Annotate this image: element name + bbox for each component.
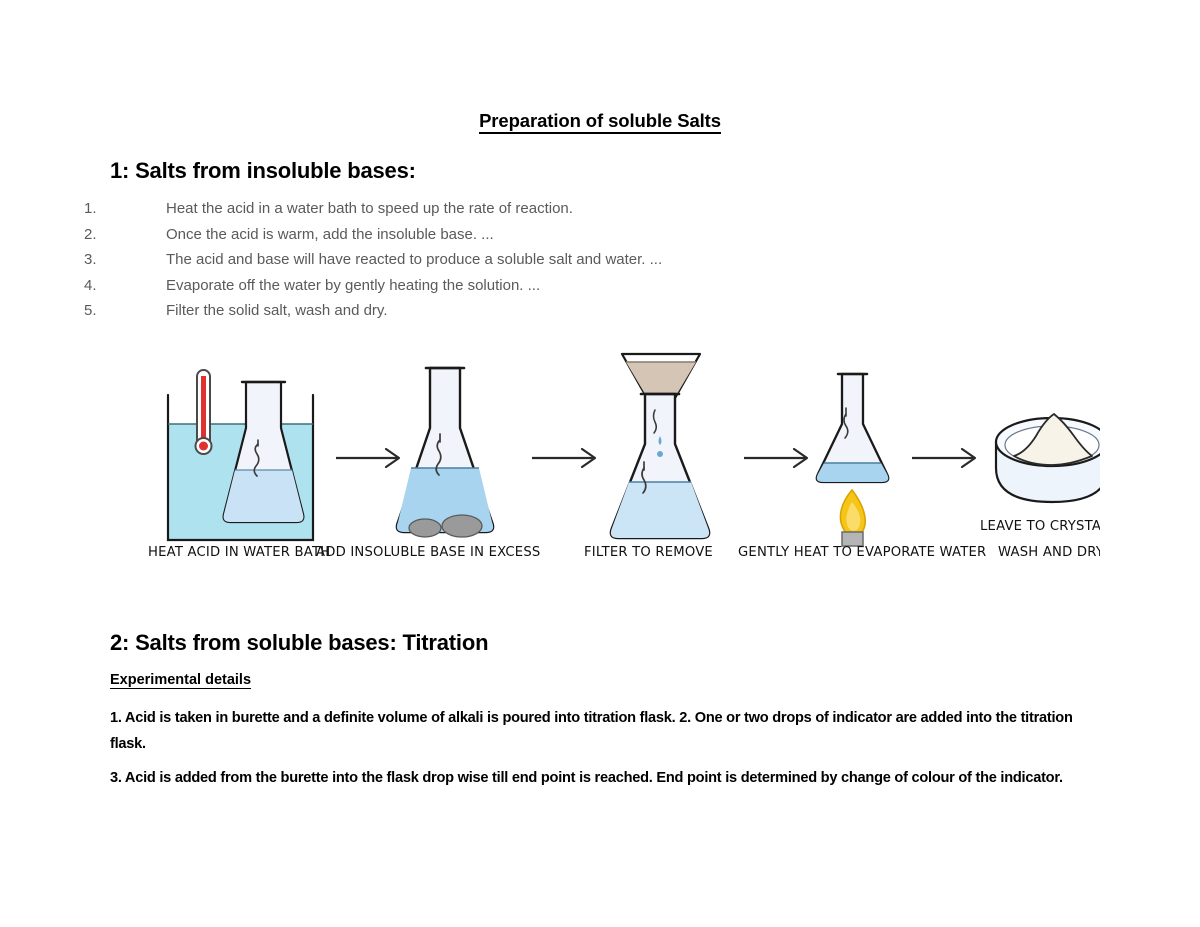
step-text: The acid and base will have reacted to p… bbox=[166, 251, 662, 268]
steps-list: 1. Heat the acid in a water bath to spee… bbox=[84, 200, 1084, 328]
arrow-right-icon bbox=[744, 449, 807, 467]
paragraph-1: 1. Acid is taken in burette and a defini… bbox=[110, 705, 1092, 757]
stage-caption: MIX TO REACT bbox=[388, 571, 486, 572]
step-number: 4. bbox=[84, 277, 166, 294]
stage-evaporate-icon bbox=[817, 374, 888, 546]
list-item: 2. Once the acid is warm, add the insolu… bbox=[84, 226, 1084, 252]
step-number: 3. bbox=[84, 251, 166, 268]
stage-filter-icon bbox=[611, 354, 709, 538]
step-number: 1. bbox=[84, 200, 166, 217]
flame-icon bbox=[840, 490, 865, 536]
arrow-right-icon bbox=[912, 449, 975, 467]
document-page: Preparation of soluble Salts 1: Salts fr… bbox=[0, 0, 1200, 927]
stage-caption: WASH AND DRY bbox=[998, 545, 1100, 560]
arrow-right-icon bbox=[532, 449, 595, 467]
stage-add-base-icon bbox=[397, 368, 493, 537]
thermometer-icon bbox=[196, 370, 212, 454]
stage-caption: HEAT ACID IN WATER BATH bbox=[148, 545, 330, 560]
page-title: Preparation of soluble Salts bbox=[0, 110, 1200, 132]
step-text: Heat the acid in a water bath to speed u… bbox=[166, 200, 573, 217]
list-item: 5. Filter the solid salt, wash and dry. bbox=[84, 302, 1084, 328]
list-item: 1. Heat the acid in a water bath to spee… bbox=[84, 200, 1084, 226]
list-item: 3. The acid and base will have reacted t… bbox=[84, 251, 1084, 277]
section-1-heading: 1: Salts from insoluble bases: bbox=[110, 158, 416, 184]
stage-crystallise-icon bbox=[996, 414, 1100, 502]
arrow-right-icon bbox=[336, 449, 399, 467]
experimental-details-text: Experimental details bbox=[110, 672, 251, 689]
stage-caption: ADD INSOLUBLE BASE IN EXCESS bbox=[316, 545, 541, 560]
list-item: 4. Evaporate off the water by gently hea… bbox=[84, 277, 1084, 303]
stage-caption: LEAVE TO CRYSTALLISE bbox=[980, 519, 1100, 534]
step-text: Filter the solid salt, wash and dry. bbox=[166, 302, 387, 319]
experimental-details-subheading: Experimental details bbox=[110, 672, 251, 688]
step-text: Once the acid is warm, add the insoluble… bbox=[166, 226, 494, 243]
stage-caption: GENTLY HEAT TO EVAPORATE WATER bbox=[738, 545, 986, 560]
stage-caption: FILTER TO REMOVE bbox=[584, 545, 713, 560]
process-diagram: HEAT ACID IN WATER BATH ADD INSOLUBLE BA… bbox=[140, 332, 1100, 572]
page-title-text: Preparation of soluble Salts bbox=[479, 110, 721, 134]
step-number: 2. bbox=[84, 226, 166, 243]
section-2-heading: 2: Salts from soluble bases: Titration bbox=[110, 630, 488, 656]
stage-caption: UNREACTED BASE bbox=[578, 571, 701, 572]
paragraph-2: 3. Acid is added from the burette into t… bbox=[110, 765, 1092, 791]
stage-water-bath-icon bbox=[168, 370, 313, 540]
step-text: Evaporate off the water by gently heatin… bbox=[166, 277, 540, 294]
step-number: 5. bbox=[84, 302, 166, 319]
